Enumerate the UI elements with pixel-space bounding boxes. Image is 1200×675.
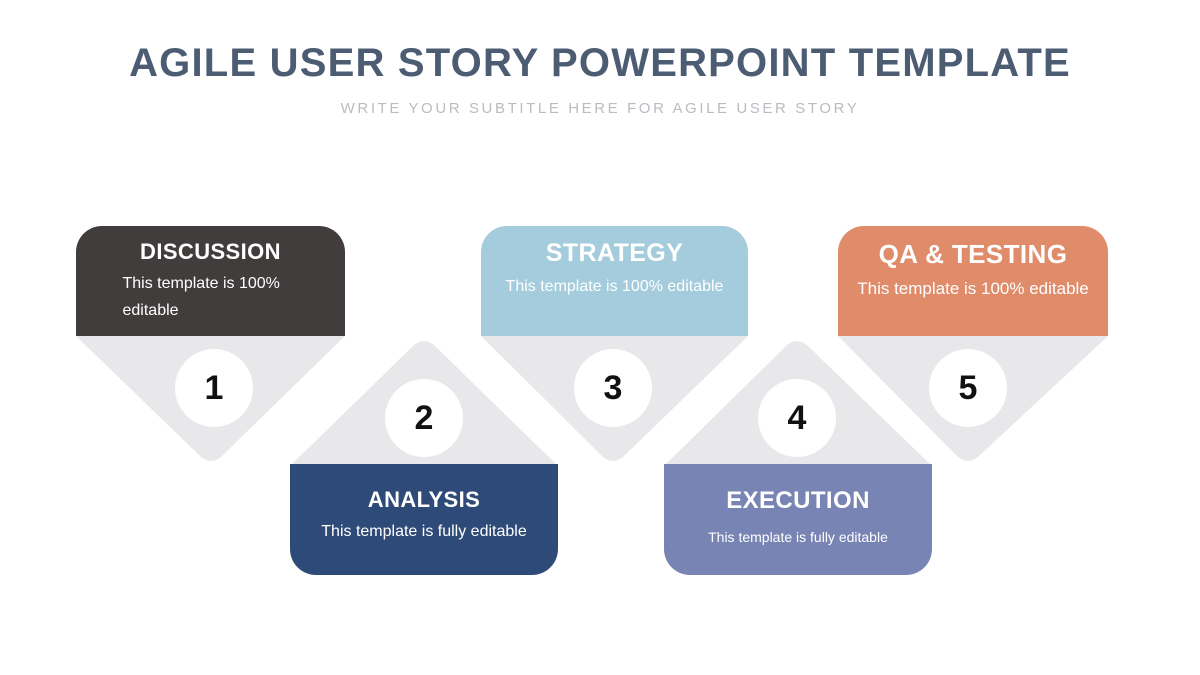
step-card-qa-testing[interactable]: QA & TESTING This template is 100% edita… xyxy=(838,226,1108,336)
page-subtitle: WRITE YOUR SUBTITLE HERE FOR AGILE USER … xyxy=(0,100,1200,118)
step-card-description: This template is fully editable xyxy=(708,526,888,550)
step-card-title: DISCUSSION xyxy=(140,238,281,266)
step-card-description: This template is 100% editable xyxy=(857,275,1089,304)
step-card-description: This template is fully editable xyxy=(321,518,526,545)
step-card-execution[interactable]: EXECUTION This template is fully editabl… xyxy=(664,464,932,575)
slide-header: AGILE USER STORY POWERPOINT TEMPLATE WRI… xyxy=(0,40,1200,118)
step-card-analysis[interactable]: ANALYSIS This template is fully editable xyxy=(290,464,558,575)
step-number-badge-2[interactable]: 2 xyxy=(385,379,463,457)
step-card-discussion[interactable]: DISCUSSION This template is 100% editabl… xyxy=(76,226,345,336)
step-card-description: This template is 100% editable xyxy=(123,270,299,324)
step-card-strategy[interactable]: STRATEGY This template is 100% editable xyxy=(481,226,748,336)
slide-canvas: AGILE USER STORY POWERPOINT TEMPLATE WRI… xyxy=(0,0,1200,675)
step-number-badge-4[interactable]: 4 xyxy=(758,379,836,457)
step-card-title: EXECUTION xyxy=(726,486,870,516)
step-card-title: ANALYSIS xyxy=(368,486,480,514)
step-card-title: STRATEGY xyxy=(546,238,683,269)
step-card-title: QA & TESTING xyxy=(879,238,1068,271)
step-number-badge-1[interactable]: 1 xyxy=(175,349,253,427)
step-number-badge-3[interactable]: 3 xyxy=(574,349,652,427)
page-title: AGILE USER STORY POWERPOINT TEMPLATE xyxy=(0,40,1200,86)
step-card-description: This template is 100% editable xyxy=(506,273,724,300)
step-number-badge-5[interactable]: 5 xyxy=(929,349,1007,427)
